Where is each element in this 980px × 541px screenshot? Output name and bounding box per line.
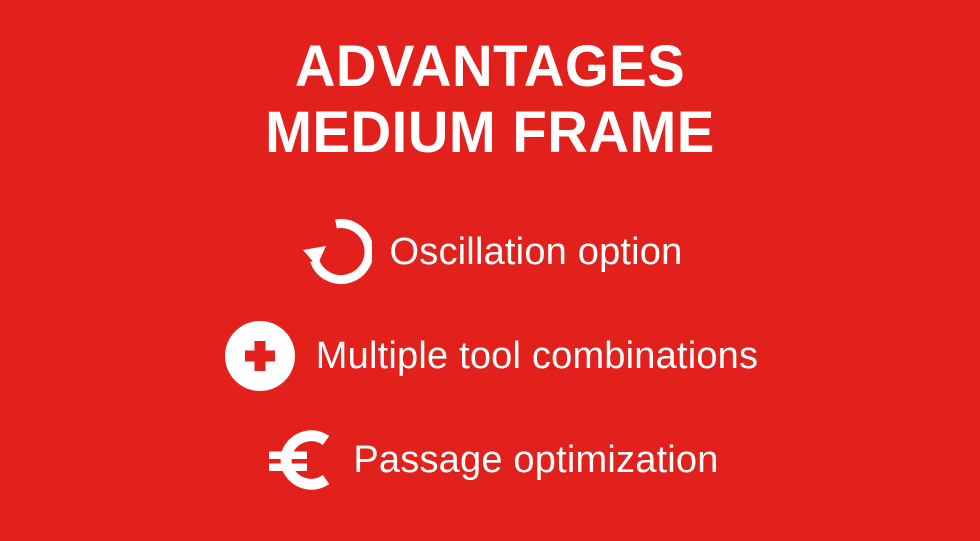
feature-item-passage: Passage optimization [261, 408, 718, 512]
plus-circle-icon [222, 318, 298, 394]
rotation-arrow-icon [298, 214, 374, 290]
euro-icon [261, 422, 337, 498]
feature-label-multiple-tools: Multiple tool combinations [316, 334, 758, 378]
feature-label-passage: Passage optimization [353, 438, 718, 482]
title-line-2: MEDIUM FRAME [15, 100, 966, 166]
feature-item-oscillation: Oscillation option [298, 200, 683, 304]
feature-label-oscillation: Oscillation option [390, 230, 683, 274]
page-title: ADVANTAGES MEDIUM FRAME [0, 34, 980, 166]
feature-item-multiple-tools: Multiple tool combinations [222, 304, 758, 408]
advantages-slide: ADVANTAGES MEDIUM FRAME Oscillation opti… [0, 0, 980, 541]
title-line-1: ADVANTAGES [15, 34, 966, 100]
feature-list: Oscillation option Multiple tool combina… [0, 200, 980, 512]
